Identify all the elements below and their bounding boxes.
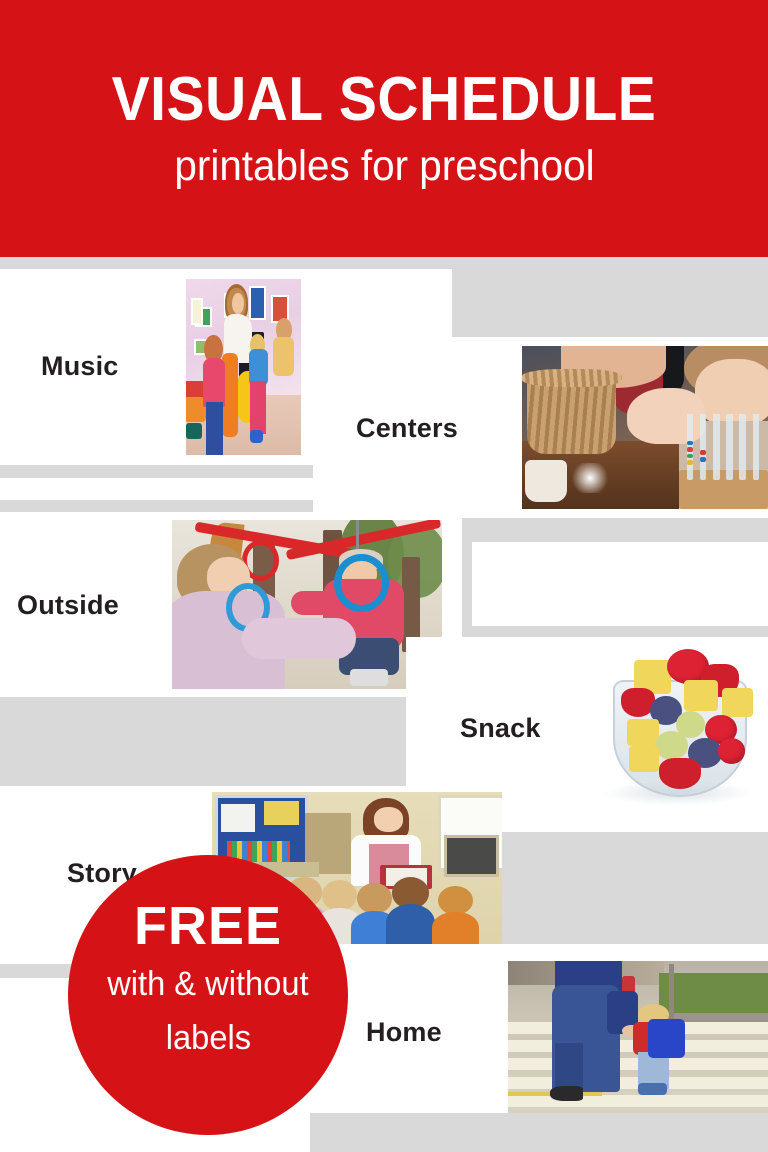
music-scene-child — [250, 381, 266, 434]
home-scene-adult — [550, 1086, 584, 1101]
schedule-card-label-snack: Snack — [460, 713, 541, 744]
story-scene-child — [322, 880, 357, 910]
snack-scene-fruit — [722, 688, 754, 717]
free-badge-headline: FREE — [134, 899, 282, 953]
music-scene-poster — [191, 298, 203, 325]
schedule-card-photo-centers — [522, 346, 768, 509]
outside-scene-mother — [242, 618, 355, 659]
schedule-card-home[interactable]: Home — [306, 944, 768, 1113]
centers-scene-cup — [525, 460, 567, 502]
music-scene-child — [206, 402, 223, 455]
free-badge[interactable]: FREE with & without labels — [68, 855, 348, 1135]
page-subtitle: printables for preschool — [174, 145, 594, 188]
home-scene-backpack — [648, 1019, 684, 1059]
snack-scene-fruit — [655, 731, 689, 760]
centers-scene-test-tube — [700, 414, 706, 479]
story-scene-teacher — [374, 807, 403, 831]
schedule-card-photo-music — [186, 279, 301, 455]
snack-scene-fruit — [627, 719, 659, 746]
centers-scene-test-tube — [753, 414, 759, 479]
home-scene-child — [638, 1083, 667, 1095]
music-scene-mat — [186, 423, 202, 439]
centers-scene-test-tube — [713, 414, 719, 479]
centers-scene-test-tube — [739, 414, 745, 479]
outside-scene-ring — [334, 554, 389, 612]
music-scene-child — [250, 430, 263, 442]
schedule-card-label-centers: Centers — [356, 413, 458, 444]
home-scene-crosswalk-stripe — [508, 1095, 768, 1107]
page-title: VISUAL SCHEDULE — [112, 69, 657, 131]
music-scene-child — [203, 358, 225, 407]
free-badge-line-1: with & without — [107, 963, 308, 1007]
schedule-card-strip-upper — [0, 478, 452, 500]
centers-scene-test-tube — [726, 414, 732, 479]
outside-scene-child — [350, 669, 388, 686]
story-scene-child — [438, 886, 473, 915]
centers-scene-basket — [527, 375, 616, 453]
centers-scene-bead — [687, 447, 693, 452]
snack-scene-fruit — [684, 680, 718, 711]
centers-scene-bead — [700, 457, 706, 462]
story-scene-chalkboard — [444, 835, 499, 877]
story-scene-child — [357, 883, 392, 913]
story-scene-chart — [264, 801, 299, 825]
schedule-card-photo-outside — [172, 520, 442, 689]
story-scene-child — [432, 912, 478, 944]
snack-scene-fruit — [718, 738, 745, 763]
story-scene-chart — [221, 804, 256, 831]
home-scene-post — [669, 964, 674, 1019]
schedule-card-photo-home — [508, 961, 768, 1113]
music-scene-teacher — [232, 293, 244, 314]
music-scene-child — [273, 337, 294, 376]
centers-scene-child — [627, 388, 706, 443]
centers-scene-bead — [687, 460, 693, 465]
schedule-card-label-home: Home — [366, 1017, 442, 1048]
centers-scene-basket — [522, 369, 622, 387]
schedule-card-label-music: Music — [41, 351, 119, 382]
centers-scene-highlight — [569, 463, 611, 492]
music-scene-poster — [249, 286, 266, 320]
header-banner: VISUAL SCHEDULE printables for preschool — [0, 0, 768, 257]
pinterest-pin-graphic: VISUAL SCHEDULE printables for preschool… — [0, 0, 768, 1152]
free-badge-line-2: labels — [165, 1017, 250, 1061]
schedule-card-label-outside: Outside — [17, 590, 119, 621]
story-scene-child — [386, 904, 435, 944]
schedule-card-strip-middle — [472, 542, 768, 626]
schedule-card-photo-snack — [558, 637, 768, 832]
schedule-card-outside[interactable]: Outside — [0, 512, 462, 697]
snack-scene-fruit — [629, 746, 658, 771]
snack-scene-fruit — [659, 758, 701, 789]
